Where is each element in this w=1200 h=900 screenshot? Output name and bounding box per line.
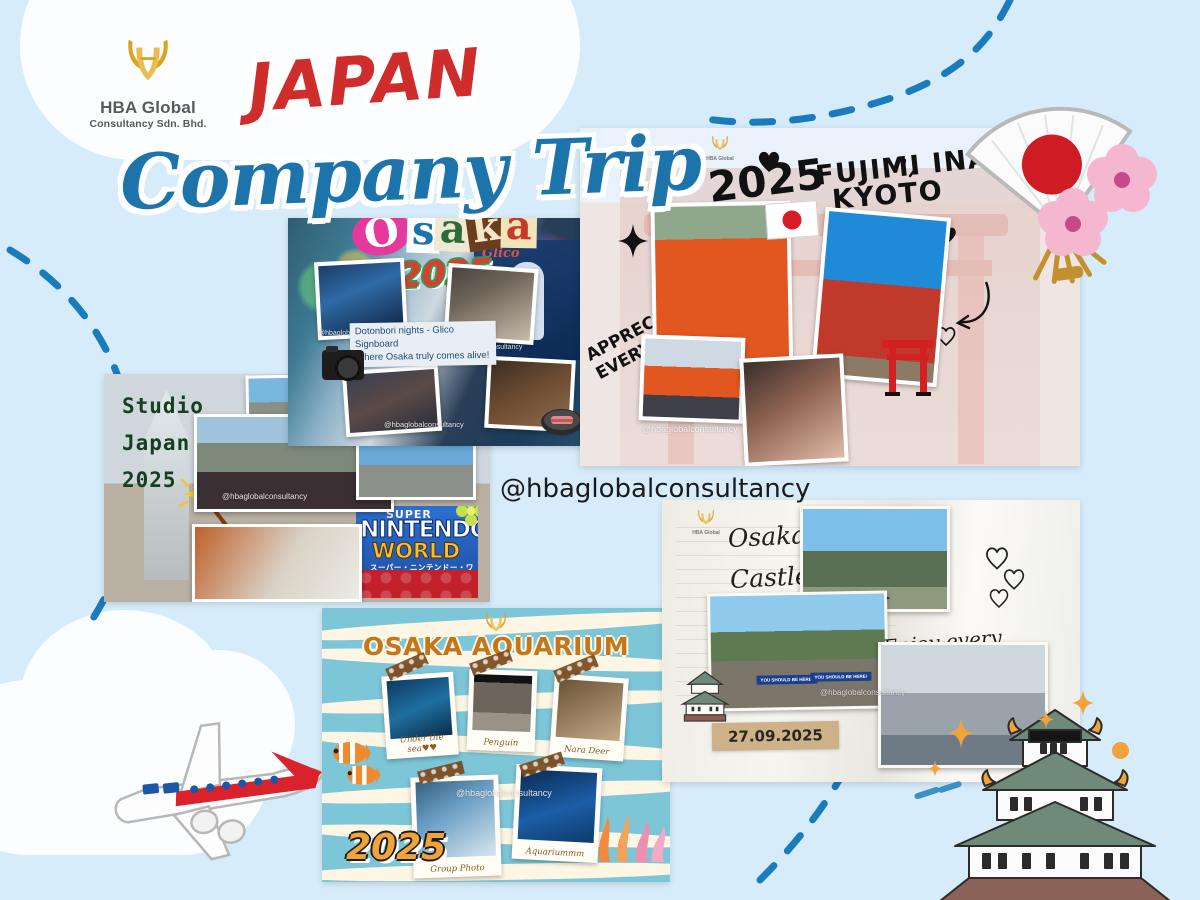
- heart-icon: [756, 150, 782, 174]
- bull-head-logo-icon: [117, 30, 179, 92]
- bbq-grill-icon: [538, 406, 586, 440]
- heart-outline-icon: [988, 588, 1010, 609]
- brand-logo: HBA Global Consultancy Sdn. Bhd.: [78, 30, 218, 130]
- star-sparkle-icon: [928, 760, 942, 777]
- logo-company-name: HBA Global: [78, 99, 218, 117]
- osaka-letter-0: O: [349, 218, 414, 260]
- photo-image: [743, 358, 844, 463]
- osaka-caption-line1: Dotonbori nights - Glico Signboard: [355, 324, 491, 352]
- kyoto-small-logo: HBA Global: [698, 134, 742, 162]
- camera-icon: [322, 350, 364, 380]
- japanese-fan-icon: [960, 102, 1190, 292]
- airplane-icon: [110, 718, 340, 868]
- center-handle-text: @hbaglobalconsultancy: [500, 474, 810, 504]
- aquarium-photo-0[interactable]: Under the sea♥♥: [381, 672, 459, 760]
- castle-banner-text-1: YOU SHOULD BE HERE!: [756, 674, 817, 684]
- aquarium-caption-1: Penguin: [467, 737, 535, 749]
- nintendo-red-band: [356, 570, 478, 598]
- studio-photo-snoopy-cafe[interactable]: [192, 524, 362, 602]
- photo-image: [472, 674, 532, 732]
- torii-gate-icon: [880, 332, 936, 396]
- kyoto-photo-selfie[interactable]: [739, 353, 849, 466]
- nintendo-line3: WORLD: [372, 539, 460, 563]
- panel-osaka-aquarium[interactable]: OSAKA AQUARIUM Under the sea♥♥ Penguin N…: [322, 608, 670, 882]
- photo-image: [359, 439, 473, 497]
- coral-icon: [590, 802, 670, 864]
- star-sparkle-icon: [1038, 710, 1054, 729]
- sparkle-icon: [618, 224, 648, 258]
- poster-canvas: HBA Global Consultancy Sdn. Bhd. JAPAN C…: [0, 0, 1200, 900]
- aquarium-photo-1[interactable]: Penguin: [467, 669, 538, 752]
- photo-image: [387, 677, 453, 739]
- japan-flag-icon: .jp-flag:after{width:19px;height:19px;}: [765, 200, 819, 240]
- mini-castle-icon: [674, 670, 736, 722]
- castle-date-badge: 27.09.2025: [712, 721, 839, 751]
- bull-head-logo-icon: [693, 508, 719, 525]
- osaka-caption-box: Dotonbori nights - Glico Signboard Where…: [350, 321, 497, 368]
- bull-head-logo-icon: [707, 134, 733, 151]
- page-title-japan: JAPAN: [246, 34, 485, 127]
- castle-title-line1: Osaka: [727, 514, 809, 559]
- kyoto-photo-group-torii[interactable]: [639, 334, 746, 424]
- castle-small-logo: HBA Global: [684, 508, 728, 536]
- photo-image: [643, 338, 742, 419]
- photo-image: [195, 527, 359, 599]
- castle-banner-text-2: YOU SHOULD BE HERE!: [810, 671, 871, 681]
- studio-label-line1: Studio: [122, 388, 204, 425]
- osaka-caption-line2: Where Osaka truly comes alive!: [355, 349, 491, 364]
- nintendo-line3-text: WORLD: [372, 539, 460, 563]
- osaka-letter-4: a: [501, 218, 538, 248]
- panel-osaka[interactable]: Glico Osaka 2025 @hbaglobalconsultancy @…: [288, 218, 588, 446]
- aquarium-photo-4[interactable]: Aquariummm: [512, 764, 603, 863]
- studio-label-line2: Japan: [122, 425, 204, 462]
- studio-photo-nintendo-world[interactable]: SUPER NINTENDO WORLD スーパー・ニンテンドー・ワールド: [356, 506, 478, 598]
- flower-star-icon: [456, 506, 478, 526]
- logo-company-subtitle: Consultancy Sdn. Bhd.: [78, 118, 218, 130]
- photo-image: [518, 769, 598, 843]
- castle-logo-name: HBA Global: [684, 530, 728, 536]
- dot-decoration: [1112, 742, 1129, 759]
- sparkle-lines-icon: [888, 150, 922, 184]
- aquarium-caption-4: Aquariummm: [512, 846, 598, 860]
- aquarium-year: 2025: [346, 827, 446, 868]
- aquarium-caption-0: Under the sea♥♥: [385, 731, 458, 756]
- photo-image: [710, 593, 886, 708]
- photo-image: [556, 679, 624, 741]
- star-sparkle-icon: [1072, 690, 1094, 716]
- clownfish-icon: [344, 760, 382, 790]
- aquarium-photo-2[interactable]: Nara Deer: [549, 674, 629, 762]
- star-sparkle-icon: [948, 718, 974, 748]
